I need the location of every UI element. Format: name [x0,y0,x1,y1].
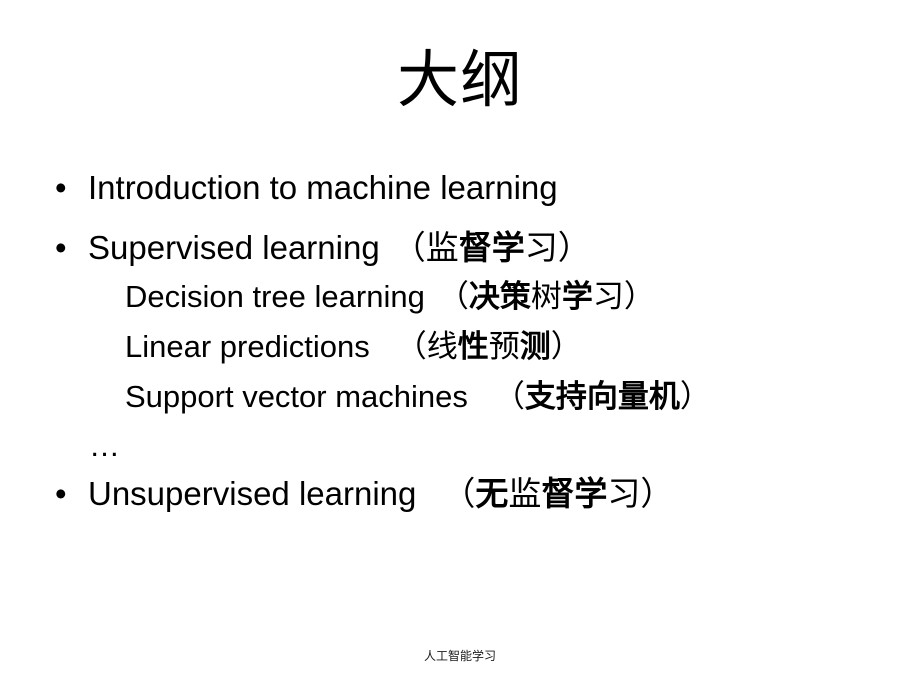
slide-body-list: • Introduction to machine learning • Sup… [50,163,880,518]
sub-item-decision-tree-learning: Decision tree learning（决策树学习） [50,272,880,322]
bullet-dot-icon: • [55,469,75,518]
presentation-slide: 大纲 • Introduction to machine learning • … [0,0,920,690]
sub-text-chinese-open: （ [438,279,469,315]
bullet-item-introduction: • Introduction to machine learning [50,163,880,212]
bullet-text-chinese-b: 监 [508,474,541,513]
bullet-text-chinese-open: （ [393,228,426,267]
sub-item-ellipsis: … [50,422,880,469]
bullet-text-chinese-a: 无 [475,474,508,513]
slide-footer: 人工智能学习 [0,648,920,664]
sub-text-chinese-close: ） [551,329,582,365]
bullet-dot-icon: • [55,223,75,272]
sub-text-chinese-a: 决策 [469,279,531,315]
bullet-text-chinese-close: 习） [525,228,591,267]
sub-text-chinese-open: （线 [396,329,458,365]
bullet-text-english: Unsupervised learning [88,475,416,512]
bullet-item-unsupervised-learning: • Unsupervised learning（无监督学习） [50,469,880,518]
sub-text-chinese-c: 测 [520,329,551,365]
sub-text-chinese-c: 学 [562,279,593,315]
sub-item-linear-predictions: Linear predictions（线性预测） [50,322,880,372]
bullet-text-chinese-a: 监 [426,228,459,267]
sub-text-english: Decision tree learning [125,279,425,314]
sub-item-support-vector-machines: Support vector machines（支持向量机） [50,372,880,422]
bullet-text-chinese-c: 督学 [541,474,607,513]
sub-text-english: Linear predictions [125,329,370,364]
bullet-text-chinese-b: 督学 [459,228,525,267]
sub-text-chinese-open: （ [494,379,525,415]
bullet-dot-icon: • [55,163,75,212]
sub-text-chinese-b: 预 [489,329,520,365]
sub-text-chinese-close: 习） [593,279,655,315]
bullet-text-chinese-open: （ [442,474,475,513]
bullet-text-english: Introduction to machine learning [88,169,558,206]
sub-text-chinese-a: 支持向量机 [525,379,680,415]
slide-title: 大纲 [0,44,920,116]
sub-text-chinese-b: 树 [531,279,562,315]
bullet-text-english: Supervised learning [88,229,380,266]
sub-text-english: Support vector machines [125,379,468,414]
sub-text-chinese-close: ） [680,379,711,415]
bullet-text-chinese-close: 习） [607,474,673,513]
sub-text-chinese-a: 性 [458,329,489,365]
bullet-item-supervised-learning: • Supervised learning（监督学习） [50,223,880,272]
